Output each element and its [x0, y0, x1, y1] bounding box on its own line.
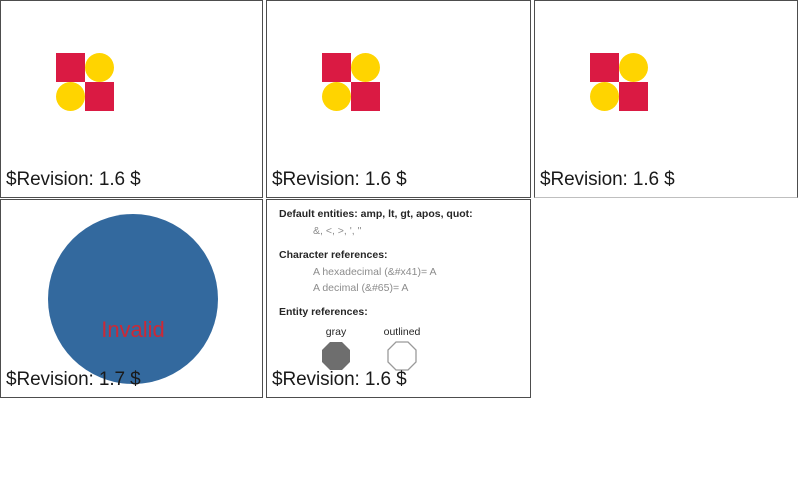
checker-square-top-left	[590, 53, 619, 82]
test-grid-canvas: $Revision: 1.6 $ $Revision: 1.6 $ $Revis…	[0, 0, 800, 480]
revision-caption-1: $Revision: 1.6 $	[6, 169, 141, 191]
checker-circle-top-right	[85, 53, 114, 82]
render-panel-3: $Revision: 1.6 $	[534, 0, 798, 198]
character-reference-hexadecimal: A hexadecimal (&#x41)= A	[313, 264, 524, 280]
render-panel-5: Default entities: amp, lt, gt, apos, quo…	[266, 199, 531, 398]
checker-logo-2	[322, 53, 380, 111]
character-reference-decimal: A decimal (&#65)= A	[313, 280, 524, 296]
octagon-gray-caption: gray	[303, 326, 369, 339]
render-panel-1: $Revision: 1.6 $	[0, 0, 263, 198]
checker-circle-top-right	[619, 53, 648, 82]
render-panel-4: Invalid $Revision: 1.7 $	[0, 199, 263, 398]
checker-square-top-left	[56, 53, 85, 82]
checker-circle-bottom-left	[590, 82, 619, 111]
checker-square-bottom-right	[85, 82, 114, 111]
default-entities-values: &, <, >, ', "	[313, 223, 524, 239]
checker-logo-1	[56, 53, 114, 111]
spacer-2	[279, 296, 524, 305]
character-references-heading: Character references:	[279, 248, 524, 263]
invalid-blue-circle: Invalid	[48, 214, 218, 384]
invalid-circle-label: Invalid	[48, 318, 218, 342]
octagon-sample-row: gray outlined	[303, 326, 524, 374]
revision-caption-2: $Revision: 1.6 $	[272, 169, 407, 191]
revision-caption-4: $Revision: 1.7 $	[6, 369, 141, 391]
octagon-outlined-caption: outlined	[369, 326, 435, 339]
checker-circle-bottom-left	[322, 82, 351, 111]
checker-square-bottom-right	[351, 82, 380, 111]
checker-logo-3	[590, 53, 648, 111]
spacer-1	[279, 239, 524, 248]
revision-caption-3: $Revision: 1.6 $	[540, 169, 675, 191]
checker-square-top-left	[322, 53, 351, 82]
octagon-sample-outlined: outlined	[369, 326, 435, 371]
checker-circle-top-right	[351, 53, 380, 82]
octagon-filled-icon	[321, 341, 351, 371]
entity-reference-block: Default entities: amp, lt, gt, apos, quo…	[279, 207, 524, 374]
octagon-sample-gray: gray	[303, 326, 369, 371]
revision-caption-5: $Revision: 1.6 $	[272, 369, 407, 391]
octagon-outlined-icon	[387, 341, 417, 371]
checker-circle-bottom-left	[56, 82, 85, 111]
entity-references-heading: Entity references:	[279, 305, 524, 320]
render-panel-2: $Revision: 1.6 $	[266, 0, 531, 198]
checker-square-bottom-right	[619, 82, 648, 111]
default-entities-heading: Default entities: amp, lt, gt, apos, quo…	[279, 207, 524, 222]
